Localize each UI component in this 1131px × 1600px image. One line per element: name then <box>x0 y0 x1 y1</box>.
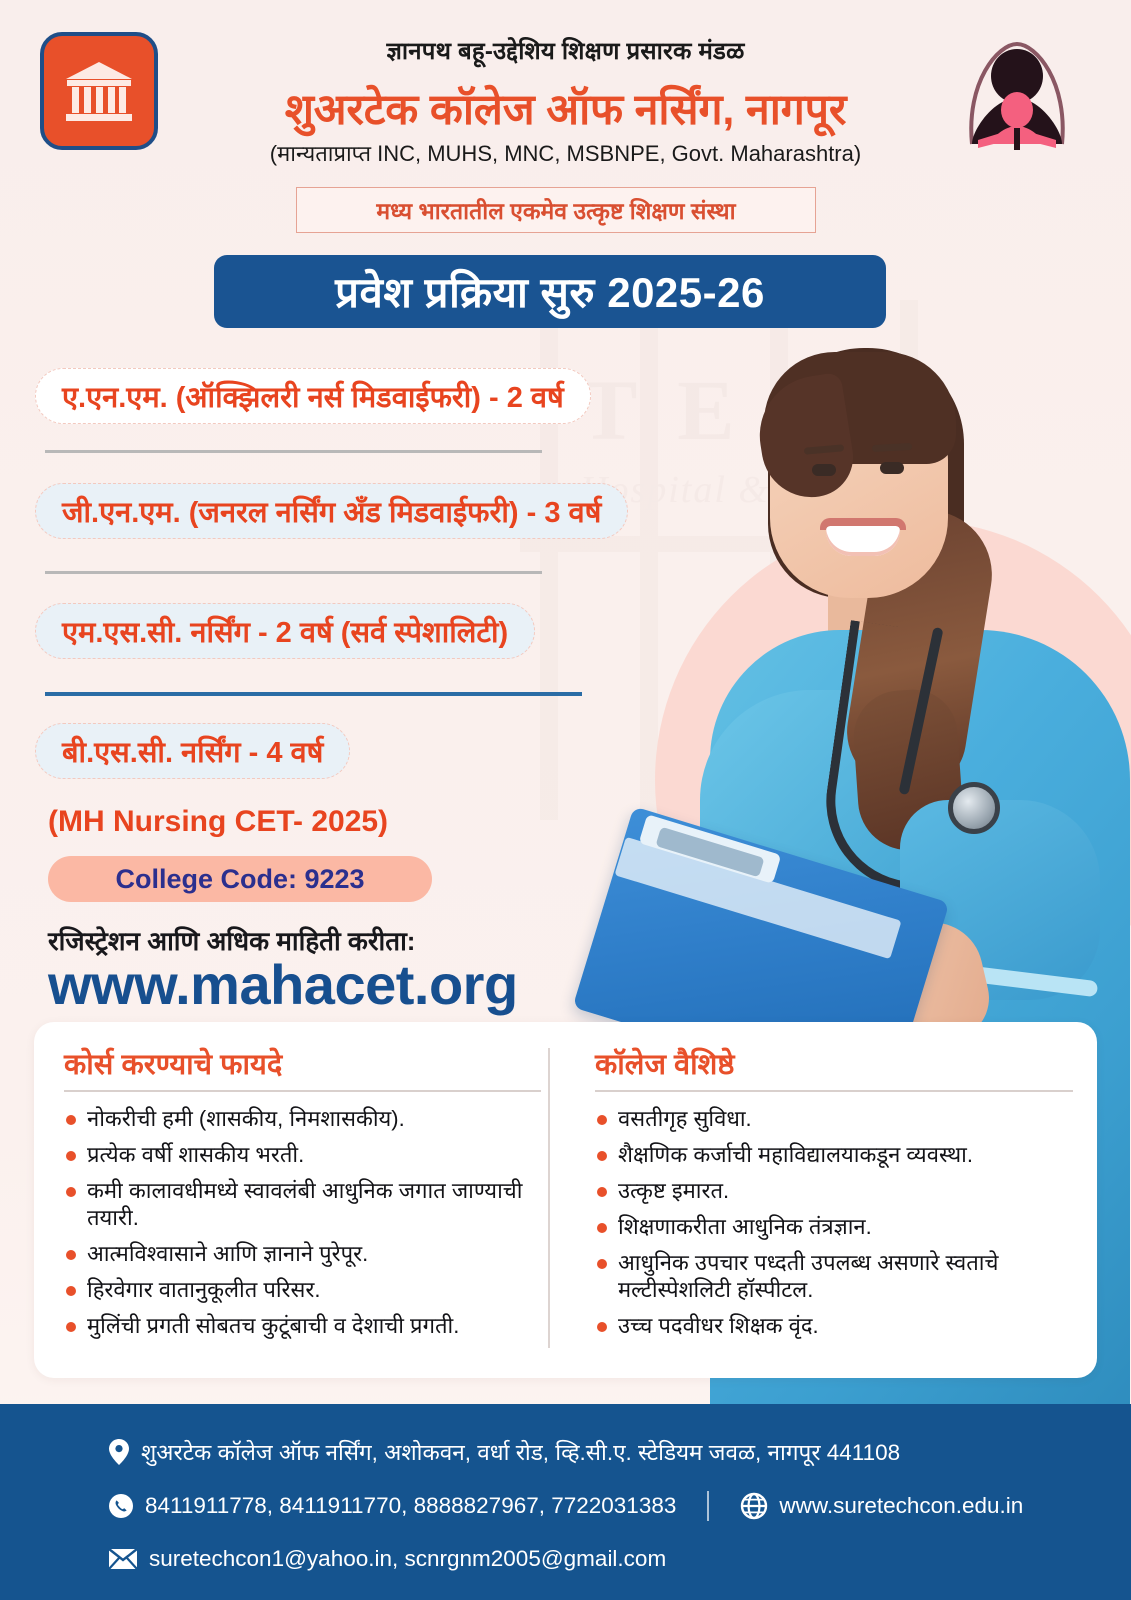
list-item: शैक्षणिक कर्जाची महाविद्यालयाकडून व्यवस्… <box>595 1141 1073 1168</box>
admission-banner-text: प्रवेश प्रक्रिया सुरु 2025-26 <box>335 263 765 320</box>
approvals-line: (मान्यताप्राप्त INC, MUHS, MNC, MSBNPE, … <box>0 138 1131 168</box>
list-item: कमी कालावधीमध्ये स्वावलंबी आधुनिक जगात ज… <box>64 1177 541 1231</box>
phone-icon <box>108 1493 134 1519</box>
footer-address: शुअरटेक कॉलेज ऑफ नर्सिंग, अशोकवन, वर्धा … <box>141 1436 900 1467</box>
footer-phones[interactable]: 8411911778, 8411911770, 8888827967, 7722… <box>145 1493 676 1519</box>
admission-poster: T E C Hospital & Research <box>0 0 1131 1600</box>
admission-banner: प्रवेश प्रक्रिया सुरु 2025-26 <box>214 255 886 328</box>
tagline-text: मध्य भारतातील एकमेव उत्कृष्ट शिक्षण संस्… <box>376 194 735 226</box>
course-pill-msc[interactable]: एम.एस.सी. नर्सिंग - 2 वर्ष (सर्व स्पेशाल… <box>35 603 535 659</box>
footer-email-row: suretechcon1@yahoo.in, scnrgnm2005@gmail… <box>108 1546 666 1572</box>
info-card: कोर्स करण्याचे फायदे नोकरीची हमी (शासकीय… <box>34 1022 1097 1378</box>
footer-separator <box>707 1491 709 1521</box>
tagline-box: मध्य भारतातील एकमेव उत्कृष्ट शिक्षण संस्… <box>296 187 816 233</box>
list-item: नोकरीची हमी (शासकीय, निमशासकीय). <box>64 1105 541 1132</box>
cet-note: (MH Nursing CET- 2025) <box>48 805 388 839</box>
footer-contact-row: 8411911778, 8411911770, 8888827967, 7722… <box>108 1491 1023 1521</box>
benefits-underline <box>64 1090 541 1092</box>
footer-address-row: शुअरटेक कॉलेज ऑफ नर्सिंग, अशोकवन, वर्धा … <box>108 1436 900 1467</box>
divider-2 <box>45 571 542 574</box>
globe-icon <box>740 1492 768 1520</box>
benefits-title: कोर्स करण्याचे फायदे <box>64 1044 541 1083</box>
features-title: कॉलेज वैशिष्ठे <box>595 1044 1073 1083</box>
college-code-text: College Code: 9223 <box>115 864 364 895</box>
footer: शुअरटेक कॉलेज ऑफ नर्सिंग, अशोकवन, वर्धा … <box>0 1404 1131 1600</box>
benefits-list: नोकरीची हमी (शासकीय, निमशासकीय). प्रत्ये… <box>64 1105 541 1339</box>
footer-website[interactable]: www.suretechcon.edu.in <box>779 1493 1023 1519</box>
college-code-badge: College Code: 9223 <box>48 856 432 902</box>
column-divider <box>548 1048 550 1348</box>
course-pill-bsc[interactable]: बी.एस.सी. नर्सिंग - 4 वर्ष <box>35 723 350 779</box>
list-item: उत्कृष्ट इमारत. <box>595 1177 1073 1204</box>
features-underline <box>595 1090 1073 1092</box>
features-list: वसतीगृह सुविधा. शैक्षणिक कर्जाची महाविद्… <box>595 1105 1073 1339</box>
benefits-column: कोर्स करण्याचे फायदे नोकरीची हमी (शासकीय… <box>34 1022 565 1378</box>
college-name: शुअरटेक कॉलेज ऑफ नर्सिंग, नागपूर <box>0 78 1131 137</box>
list-item: शिक्षणाकरीता आधुनिक तंत्रज्ञान. <box>595 1213 1073 1240</box>
course-pill-anm[interactable]: ए.एन.एम. (ऑक्झिलरी नर्स मिडवाईफरी) - 2 व… <box>35 368 591 424</box>
envelope-icon <box>108 1548 138 1570</box>
list-item: मुलिंची प्रगती सोबतच कुटूंबाची व देशाची … <box>64 1312 541 1339</box>
list-item: हिरवेगार वातानुकूलीत परिसर. <box>64 1276 541 1303</box>
list-item: प्रत्येक वर्षी शासकीय भरती. <box>64 1141 541 1168</box>
organization-name: ज्ञानपथ बहू-उद्देशिय शिक्षण प्रसारक मंडळ <box>0 34 1131 67</box>
list-item: आधुनिक उपचार पध्दती उपलब्ध असणारे स्वताच… <box>595 1249 1073 1303</box>
location-pin-icon <box>108 1438 130 1466</box>
footer-emails[interactable]: suretechcon1@yahoo.in, scnrgnm2005@gmail… <box>149 1546 666 1572</box>
list-item: वसतीगृह सुविधा. <box>595 1105 1073 1132</box>
divider-1 <box>45 450 542 453</box>
course-pill-gnm[interactable]: जी.एन.एम. (जनरल नर्सिंग अँड मिडवाईफरी) -… <box>35 483 628 539</box>
features-column: कॉलेज वैशिष्ठे वसतीगृह सुविधा. शैक्षणिक … <box>565 1022 1097 1378</box>
list-item: उच्च पदवीधर शिक्षक वृंद. <box>595 1312 1073 1339</box>
mahacet-website[interactable]: www.mahacet.org <box>48 952 518 1017</box>
list-item: आत्मविश्वासाने आणि ज्ञानाने पुरेपूर. <box>64 1240 541 1267</box>
divider-3 <box>45 692 582 696</box>
